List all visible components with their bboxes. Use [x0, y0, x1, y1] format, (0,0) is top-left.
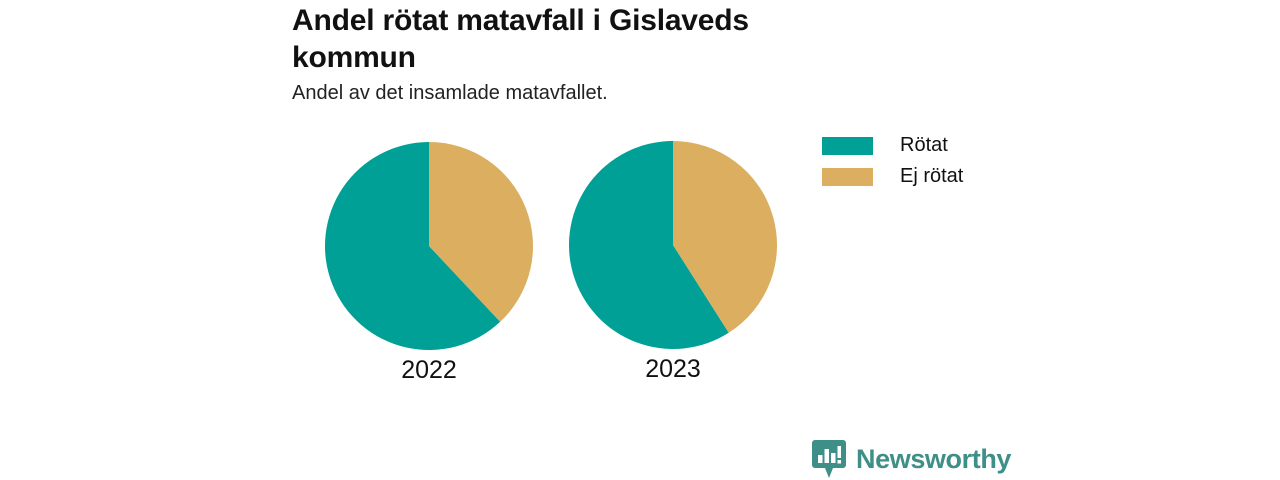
pie-2023: [569, 141, 777, 349]
legend-label: Ej rötat: [900, 165, 963, 188]
pie-svg-2023: [569, 141, 777, 349]
legend-label: Rötat: [900, 134, 948, 157]
pie-svg-2022: [325, 142, 533, 350]
pie-label-2023: 2023: [593, 357, 753, 382]
legend-swatch: [822, 137, 873, 155]
chart-subtitle: Andel av det insamlade matavfallet.: [292, 80, 992, 106]
brand-name: Newsworthy: [856, 446, 1011, 473]
pie-2022: [325, 142, 533, 350]
legend-swatch: [822, 168, 873, 186]
legend-item-ej-rötat[interactable]: Ej rötat: [822, 161, 963, 192]
pie-label-2022: 2022: [349, 358, 509, 383]
legend-item-rötat[interactable]: Rötat: [822, 130, 963, 161]
chart-legend: RötatEj rötat: [822, 130, 963, 192]
chart-title: Andel rötat matavfall i Gislaveds kommun: [292, 2, 862, 76]
chart-header: Andel rötat matavfall i Gislaveds kommun…: [292, 2, 992, 106]
pie-chart-figure: Andel rötat matavfall i Gislaveds kommun…: [0, 0, 1280, 480]
chart-bubble-icon: [812, 440, 846, 478]
newsworthy-logo: Newsworthy: [812, 440, 1011, 478]
